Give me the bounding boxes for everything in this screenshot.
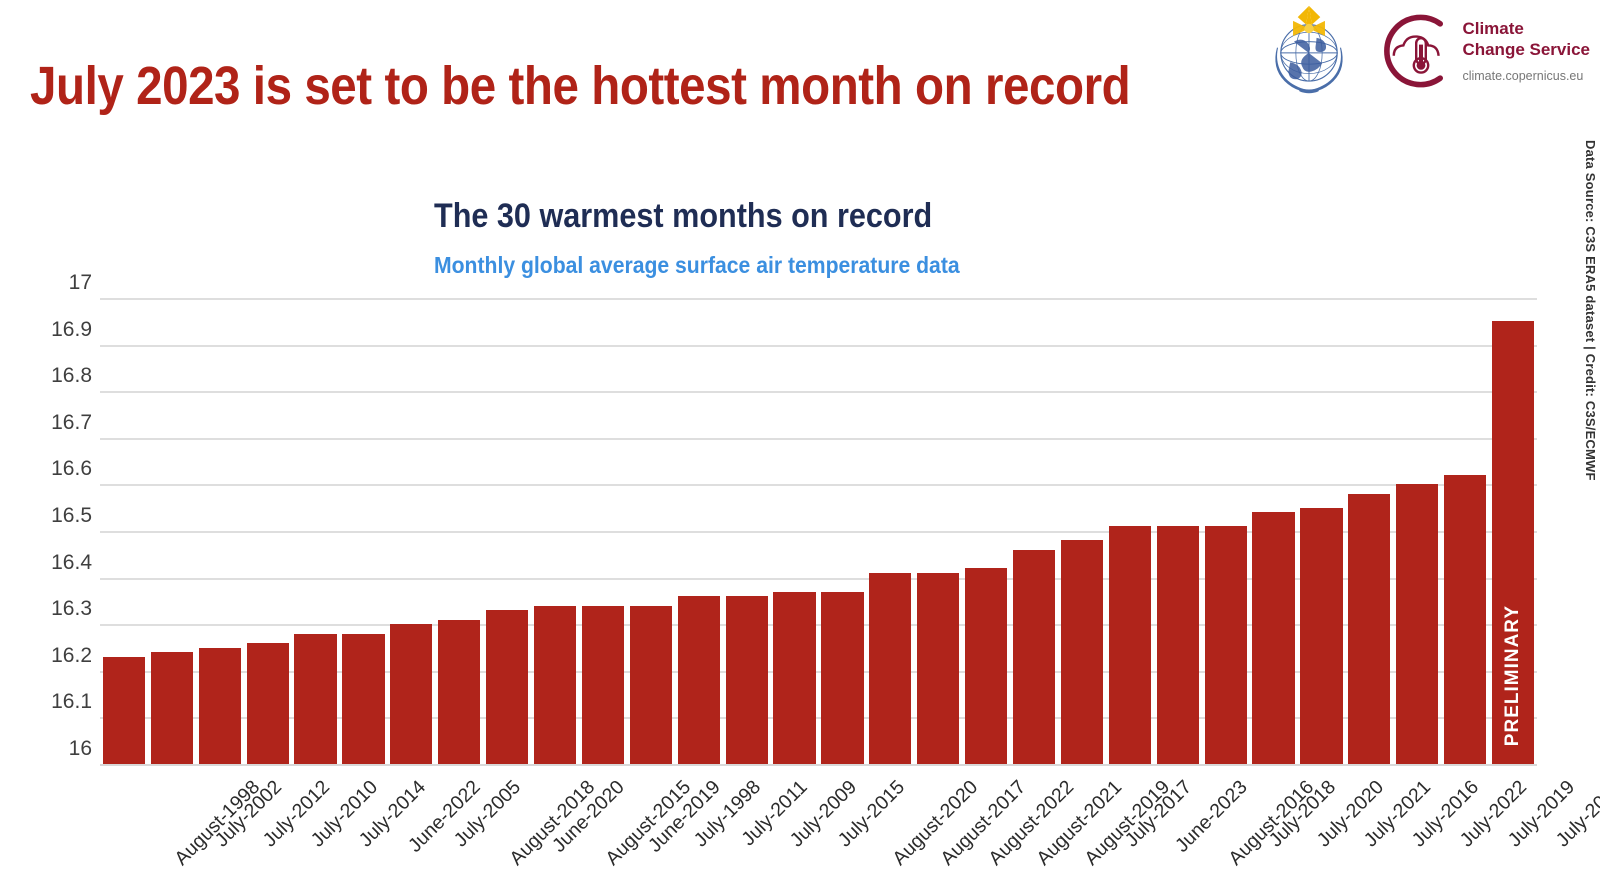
bar-august-2018[interactable] — [438, 620, 480, 764]
bar-july-2005[interactable] — [390, 624, 432, 764]
bar-july-2014[interactable] — [294, 634, 336, 764]
plot-area: PRELIMINARY — [100, 298, 1537, 764]
bar-july-2023[interactable]: PRELIMINARY — [1492, 321, 1534, 764]
wmo-logo — [1262, 4, 1356, 98]
y-axis-tick-label: 16.4 — [22, 551, 92, 575]
logo-group: Climate Change Service climate.copernicu… — [1262, 4, 1590, 98]
y-axis-tick-label: 16.3 — [22, 597, 92, 621]
bar-june-2023[interactable] — [1109, 526, 1151, 764]
bar-august-2022[interactable] — [917, 573, 959, 764]
c3s-website-url: climate.copernicus.eu — [1462, 69, 1590, 83]
bar-august-1998[interactable] — [103, 657, 145, 764]
bar-july-2015[interactable] — [773, 592, 815, 764]
bar-august-2021[interactable] — [965, 568, 1007, 764]
bar-august-2020[interactable] — [821, 592, 863, 764]
bar-july-2021[interactable] — [1300, 508, 1342, 764]
y-axis-tick-label: 16.6 — [22, 457, 92, 481]
y-axis-tick-label: 16.9 — [22, 318, 92, 342]
gridline — [100, 764, 1537, 766]
bar-july-2010[interactable] — [247, 643, 289, 764]
bar-july-2016[interactable] — [1348, 494, 1390, 764]
bar-august-2015[interactable] — [534, 606, 576, 764]
bar-august-2016[interactable] — [1157, 526, 1199, 764]
bar-july-1998[interactable] — [630, 606, 672, 764]
y-axis-tick-label: 16.5 — [22, 504, 92, 528]
copernicus-climate-change-service-logo: Climate Change Service climate.copernicu… — [1372, 11, 1590, 91]
c3s-title-line1: Climate — [1462, 19, 1590, 39]
y-axis-tick-label: 16.1 — [22, 690, 92, 714]
c3s-title-line2: Change Service — [1462, 40, 1590, 60]
bar-june-2022[interactable] — [342, 634, 384, 764]
y-axis-tick-label: 16.7 — [22, 411, 92, 435]
bar-july-2017[interactable] — [1061, 540, 1103, 764]
c3s-mark-icon — [1372, 11, 1454, 91]
bar-july-2009[interactable] — [726, 596, 768, 764]
bar-july-2012[interactable] — [199, 648, 241, 765]
bar-july-2002[interactable] — [151, 652, 193, 764]
x-axis-labels: August-1998July-2002July-2012July-2010Ju… — [100, 770, 1537, 890]
infographic-page: July 2023 is set to be the hottest month… — [0, 0, 1600, 894]
y-axis-tick-label: 16.2 — [22, 644, 92, 668]
bar-june-2020[interactable] — [486, 610, 528, 764]
bar-series: PRELIMINARY — [100, 298, 1537, 764]
bar-july-2018[interactable] — [1205, 526, 1247, 764]
bar-july-2019[interactable] — [1444, 475, 1486, 764]
bar-august-2019[interactable] — [1013, 550, 1055, 764]
data-source-credit: Data Source: C3S ERA5 dataset | Credit: … — [1576, 140, 1598, 540]
bar-june-2019[interactable] — [582, 606, 624, 764]
bar-july-2022[interactable] — [1396, 484, 1438, 764]
page-title: July 2023 is set to be the hottest month… — [30, 58, 1086, 115]
preliminary-annotation: PRELIMINARY — [1502, 605, 1524, 746]
y-axis-tick-label: 16 — [22, 737, 92, 761]
chart-subtitle: Monthly global average surface air tempe… — [434, 252, 960, 279]
bar-july-2011[interactable] — [678, 596, 720, 764]
bar-august-2017[interactable] — [869, 573, 911, 764]
y-axis-tick-label: 17 — [22, 271, 92, 295]
bar-july-2020[interactable] — [1252, 512, 1294, 764]
chart-title: The 30 warmest months on record — [434, 197, 932, 236]
y-axis-tick-label: 16.8 — [22, 364, 92, 388]
